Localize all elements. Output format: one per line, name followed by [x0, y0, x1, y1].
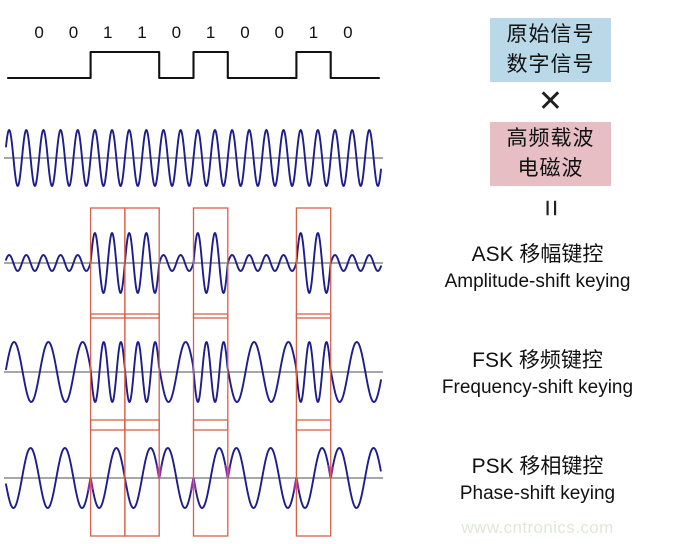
psk-full: Phase-shift keying — [400, 481, 675, 507]
psk-abbr: PSK 移相键控 — [400, 452, 675, 481]
fsk-label: FSK 移频键控 Frequency-shift keying — [400, 346, 675, 401]
carrier-wave-trace — [4, 130, 383, 186]
digital-signal-trace — [8, 52, 379, 78]
ask-abbr: ASK 移幅键控 — [400, 240, 675, 269]
waveform-panel: 0 0 1 1 0 1 0 0 1 0 — [0, 0, 400, 544]
waveform-plot — [0, 0, 400, 544]
multiply-operator: ✕ — [490, 86, 611, 118]
psk-label: PSK 移相键控 Phase-shift keying — [400, 452, 675, 507]
source-signal-line2: 数字信号 — [490, 50, 611, 80]
fsk-full: Frequency-shift keying — [400, 375, 675, 401]
source-signal-line1: 原始信号 — [490, 20, 611, 50]
fsk-abbr: FSK 移频键控 — [400, 346, 675, 375]
site-watermark: www.cntronics.com — [400, 518, 675, 538]
ask-full: Amplitude-shift keying — [400, 269, 675, 295]
source-signal-box: 原始信号 数字信号 — [490, 18, 611, 82]
modulation-diagram: 0 0 1 1 0 1 0 0 1 0 原始信号 数字信号 ✕ 高频载波 电磁波… — [0, 0, 675, 544]
ask-label: ASK 移幅键控 Amplitude-shift keying — [400, 240, 675, 295]
